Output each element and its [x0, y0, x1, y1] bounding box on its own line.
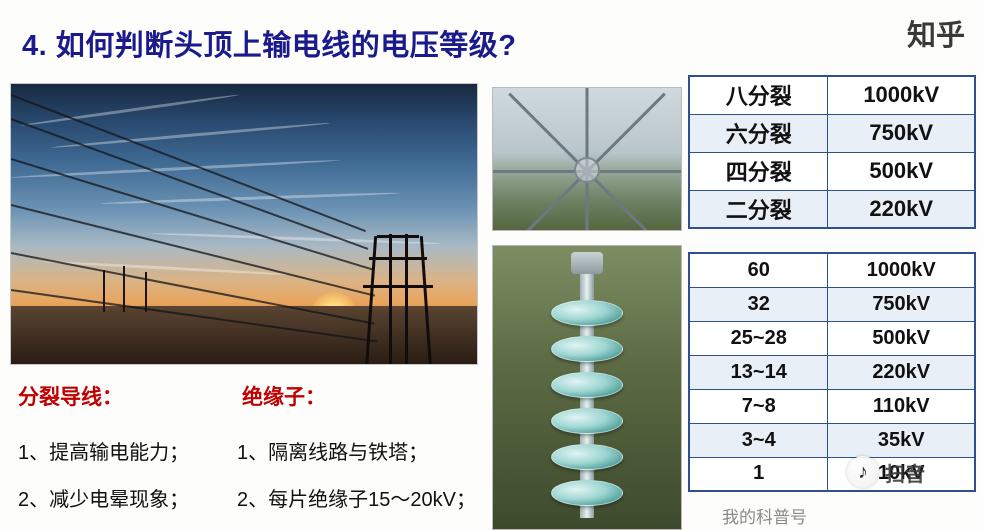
insulator-disc — [551, 372, 623, 398]
split-label: 六分裂 — [689, 114, 828, 152]
table-row: 3~4 35kV — [689, 423, 975, 457]
count-voltage: 35kV — [828, 423, 975, 457]
bundled-conductor-looking-up-photo — [492, 87, 682, 231]
distant-tower — [123, 266, 125, 312]
cloud-streak — [41, 260, 291, 276]
bundle-split-voltage-table: 八分裂 1000kV 六分裂 750kV 四分裂 500kV 二分裂 220kV — [688, 75, 976, 229]
zhihu-watermark: 知乎 — [907, 12, 965, 54]
table-row: 25~28 500kV — [689, 321, 975, 355]
insulator-heading: 绝缘子： — [242, 381, 326, 411]
insulator-note-item: 2、每片绝缘子15～20kV； — [237, 483, 476, 512]
insulator-disc — [551, 300, 623, 326]
power-line — [11, 118, 369, 249]
split-label: 四分裂 — [689, 152, 828, 190]
insulator-count: 7~8 — [689, 389, 828, 423]
lattice-tower — [363, 234, 433, 365]
split-voltage: 500kV — [828, 152, 975, 190]
conductor-ray — [586, 171, 666, 231]
insulator-cap — [571, 252, 603, 274]
table-row: 二分裂 220kV — [689, 190, 975, 228]
count-voltage: 110kV — [828, 389, 975, 423]
split-conductor-heading: 分裂导线： — [18, 381, 123, 411]
insulator-count: 13~14 — [689, 355, 828, 389]
insulator-disc — [551, 480, 623, 506]
split-label: 八分裂 — [689, 76, 828, 114]
douyin-watermark: ♪ 扫音 — [847, 456, 925, 488]
table-row: 32 750kV — [689, 287, 975, 321]
distant-tower — [145, 272, 147, 312]
count-voltage: 750kV — [828, 287, 975, 321]
table-row: 四分裂 500kV — [689, 152, 975, 190]
table-row: 60 1000kV — [689, 253, 975, 287]
cloud-streak — [11, 159, 341, 179]
count-voltage: 500kV — [828, 321, 975, 355]
power-line — [11, 94, 366, 232]
insulator-count: 25~28 — [689, 321, 828, 355]
insulator-disc — [551, 336, 623, 362]
glass-insulator-string-photo — [492, 245, 682, 530]
split-voltage: 220kV — [828, 190, 975, 228]
insulator-note-item: 1、隔离线路与铁塔； — [237, 436, 428, 465]
count-voltage: 1000kV — [828, 253, 975, 287]
music-note-icon: ♪ — [847, 456, 879, 488]
insulator-count: 1 — [689, 457, 828, 491]
page-title: 4. 如何判断头顶上输电线的电压等级? — [22, 22, 516, 64]
insulator-count: 60 — [689, 253, 828, 287]
insulator-count-voltage-table: 60 1000kV 32 750kV 25~28 500kV 13~14 220… — [688, 252, 976, 492]
channel-watermark: 我的科普号 — [722, 503, 807, 528]
table-row: 1 10kV — [689, 457, 975, 491]
split-voltage: 1000kV — [828, 76, 975, 114]
split-note-item: 2、减少电晕现象； — [18, 483, 189, 512]
conductor-ray — [508, 171, 588, 231]
table-row: 六分裂 750kV — [689, 114, 975, 152]
distant-tower — [103, 270, 105, 312]
insulator-disc — [551, 408, 623, 434]
douyin-watermark-text: 扫音 — [885, 458, 925, 487]
split-label: 二分裂 — [689, 190, 828, 228]
insulator-count: 3~4 — [689, 423, 828, 457]
conductor-ray — [586, 93, 666, 173]
transmission-tower-sunset-photo — [10, 83, 478, 365]
split-voltage: 750kV — [828, 114, 975, 152]
table-row: 13~14 220kV — [689, 355, 975, 389]
conductor-ray — [492, 170, 587, 173]
table-row: 7~8 110kV — [689, 389, 975, 423]
split-note-item: 1、提高输电能力； — [18, 436, 189, 465]
count-voltage: 220kV — [828, 355, 975, 389]
insulator-disc — [551, 444, 623, 470]
power-line — [11, 204, 375, 296]
conductor-ray — [587, 170, 682, 173]
table-row: 八分裂 1000kV — [689, 76, 975, 114]
insulator-count: 32 — [689, 287, 828, 321]
